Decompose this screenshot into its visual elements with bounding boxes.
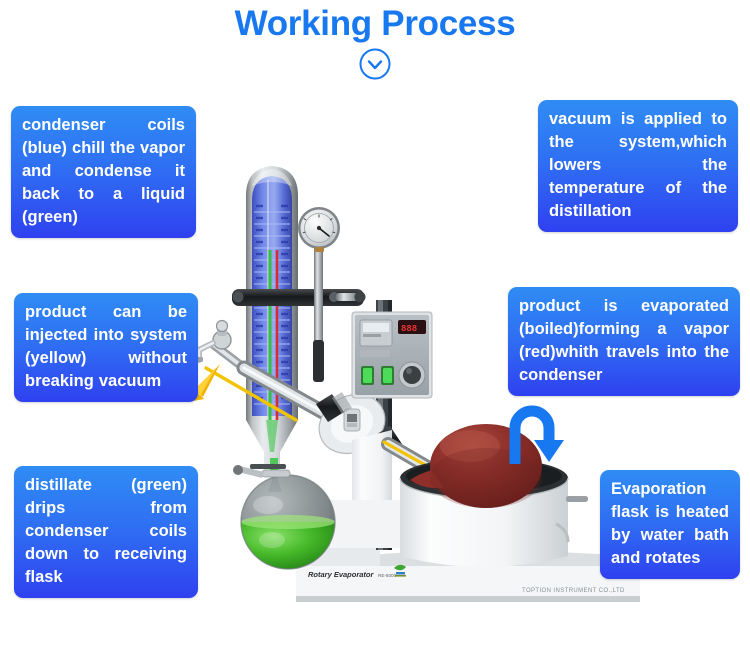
callout-text: vacuum is applied to the system,which lo… <box>549 108 727 223</box>
rotation-arrow-icon <box>505 398 567 468</box>
callout-evaporation-flask-heated: Evaporation flask is heated by water bat… <box>600 470 740 579</box>
callout-distillate-drips: distillate (green) drips from condenser … <box>14 466 198 598</box>
callout-text: distillate (green) drips from condenser … <box>25 474 187 589</box>
stand-foot <box>250 464 286 469</box>
callout-product-evaporated: product is evaporated (boiled)forming a … <box>508 287 740 396</box>
callout-text: Evaporation flask is heated by water bat… <box>611 478 729 570</box>
company-label: TOPTION INSTRUMENT CO.,LTD <box>522 588 625 594</box>
receiving-flask <box>233 458 335 569</box>
callout-vacuum-applied: vacuum is applied to the system,which lo… <box>538 100 738 232</box>
callout-text: product is evaporated (boiled)forming a … <box>519 295 729 387</box>
callout-text: condenser coils (blue) chill the vapor a… <box>22 114 185 229</box>
callout-product-injection: product can be injected into system (yel… <box>14 293 198 402</box>
condenser-clamp-ring <box>232 289 366 306</box>
condenser-coil-column <box>246 166 298 470</box>
callout-condenser-coils: condenser coils (blue) chill the vapor a… <box>11 106 196 238</box>
control-panel[interactable]: 888 <box>352 312 432 398</box>
model-label: RE-5000 <box>378 573 397 578</box>
svg-text:888: 888 <box>401 324 417 334</box>
callout-text: product can be injected into system (yel… <box>25 301 187 393</box>
brand-label: Rotary Evaporator <box>308 570 375 579</box>
